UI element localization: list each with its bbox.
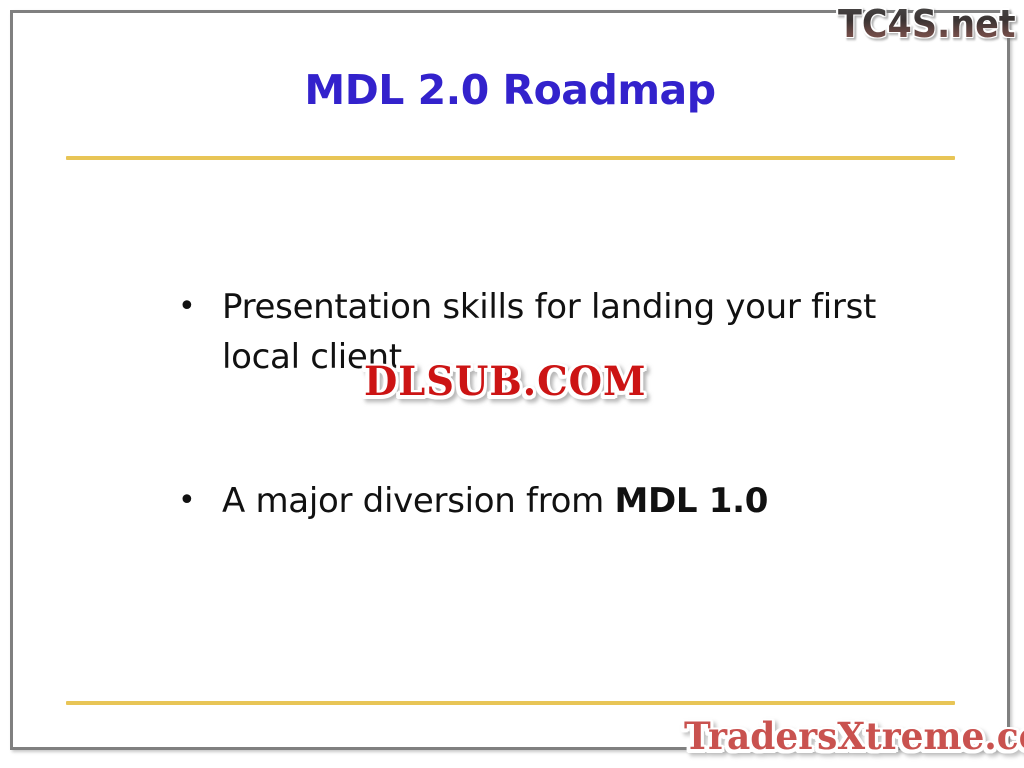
list-item-text-plain: Presentation skills for landing your fir… [222, 287, 876, 377]
list-item-text: Presentation skills for landing your fir… [222, 282, 882, 382]
bullet-list: • Presentation skills for landing your f… [170, 282, 950, 526]
list-item-text-plain: A major diversion from [222, 481, 614, 521]
bullet-point-icon: • [170, 282, 222, 332]
list-item-text-emphasis: MDL 1.0 [614, 481, 768, 521]
divider-top [66, 156, 955, 160]
list-item-text: A major diversion from MDL 1.0 [222, 476, 882, 526]
divider-bottom [66, 701, 955, 705]
list-item: • A major diversion from MDL 1.0 [170, 476, 950, 526]
bullet-point-icon: • [170, 476, 222, 526]
slide-canvas: MDL 2.0 Roadmap • Presentation skills fo… [0, 0, 1024, 768]
page-title: MDL 2.0 Roadmap [60, 68, 960, 113]
list-item: • Presentation skills for landing your f… [170, 282, 950, 382]
